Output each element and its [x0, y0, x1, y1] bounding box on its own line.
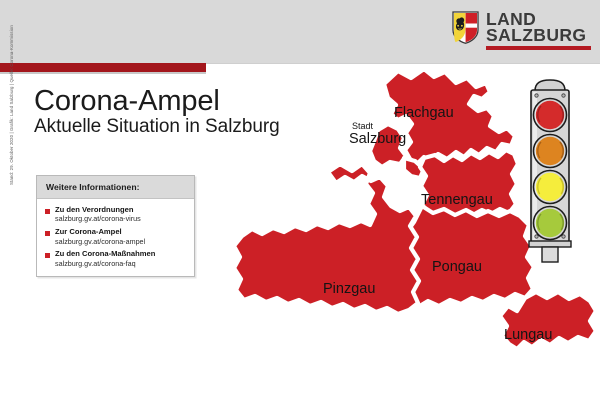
- land-salzburg-logo: LAND SALZBURG: [452, 11, 591, 50]
- infographic-canvas: LAND SALZBURG Corona-Ampel Aktuelle Situ…: [0, 0, 600, 400]
- square-bullet-icon: [45, 253, 50, 258]
- list-item-title: Zu den Corona-Maßnahmen: [55, 250, 155, 258]
- square-bullet-icon: [45, 231, 50, 236]
- accent-bar-shadow: [0, 72, 206, 74]
- accent-bar: [0, 63, 206, 72]
- traffic-light-lamp-yellow: [534, 171, 567, 204]
- logo-underline: [486, 46, 591, 50]
- traffic-light-lamp-orange: [534, 135, 567, 168]
- map-region-tennengau: [420, 150, 518, 217]
- map-region-pongau: [406, 206, 534, 307]
- salzburg-coat-of-arms-icon: [452, 11, 479, 44]
- logo-line-salzburg: SALZBURG: [486, 28, 591, 44]
- logo-wordmark: LAND SALZBURG: [486, 11, 591, 50]
- list-item-title: Zu den Verordnungen: [55, 206, 141, 214]
- traffic-light-lamp-green: [534, 207, 567, 240]
- list-item[interactable]: Zu den Corona-Maßnahmen salzburg.gv.at/c…: [45, 250, 188, 267]
- list-item-title: Zur Corona-Ampel: [55, 228, 145, 236]
- map-region-pinzgau: [234, 164, 419, 314]
- page-title: Corona-Ampel: [34, 85, 220, 118]
- traffic-light-base-plate: [529, 241, 571, 247]
- map-region-lungau: [500, 292, 596, 349]
- list-item-url[interactable]: salzburg.gv.at/corona-virus: [55, 215, 141, 223]
- corona-ampel-traffic-light: [518, 78, 582, 263]
- infobox-list: Zu den Verordnungen salzburg.gv.at/coron…: [37, 199, 194, 276]
- credit-line: Stand: 29. Oktober 2020 | Grafik: Land S…: [9, 10, 14, 185]
- list-item-url[interactable]: salzburg.gv.at/corona-ampel: [55, 238, 145, 246]
- square-bullet-icon: [45, 209, 50, 214]
- infobox-heading: Weitere Informationen:: [37, 176, 194, 199]
- traffic-light-lamp-red: [534, 99, 567, 132]
- list-item[interactable]: Zu den Verordnungen salzburg.gv.at/coron…: [45, 206, 188, 223]
- list-item-url[interactable]: salzburg.gv.at/corona-faq: [55, 260, 155, 268]
- map-region-stadt-salzburg: [370, 124, 406, 167]
- further-information-box: Weitere Informationen: Zu den Verordnung…: [36, 175, 195, 277]
- list-item[interactable]: Zur Corona-Ampel salzburg.gv.at/corona-a…: [45, 228, 188, 245]
- traffic-light-pole: [542, 247, 558, 262]
